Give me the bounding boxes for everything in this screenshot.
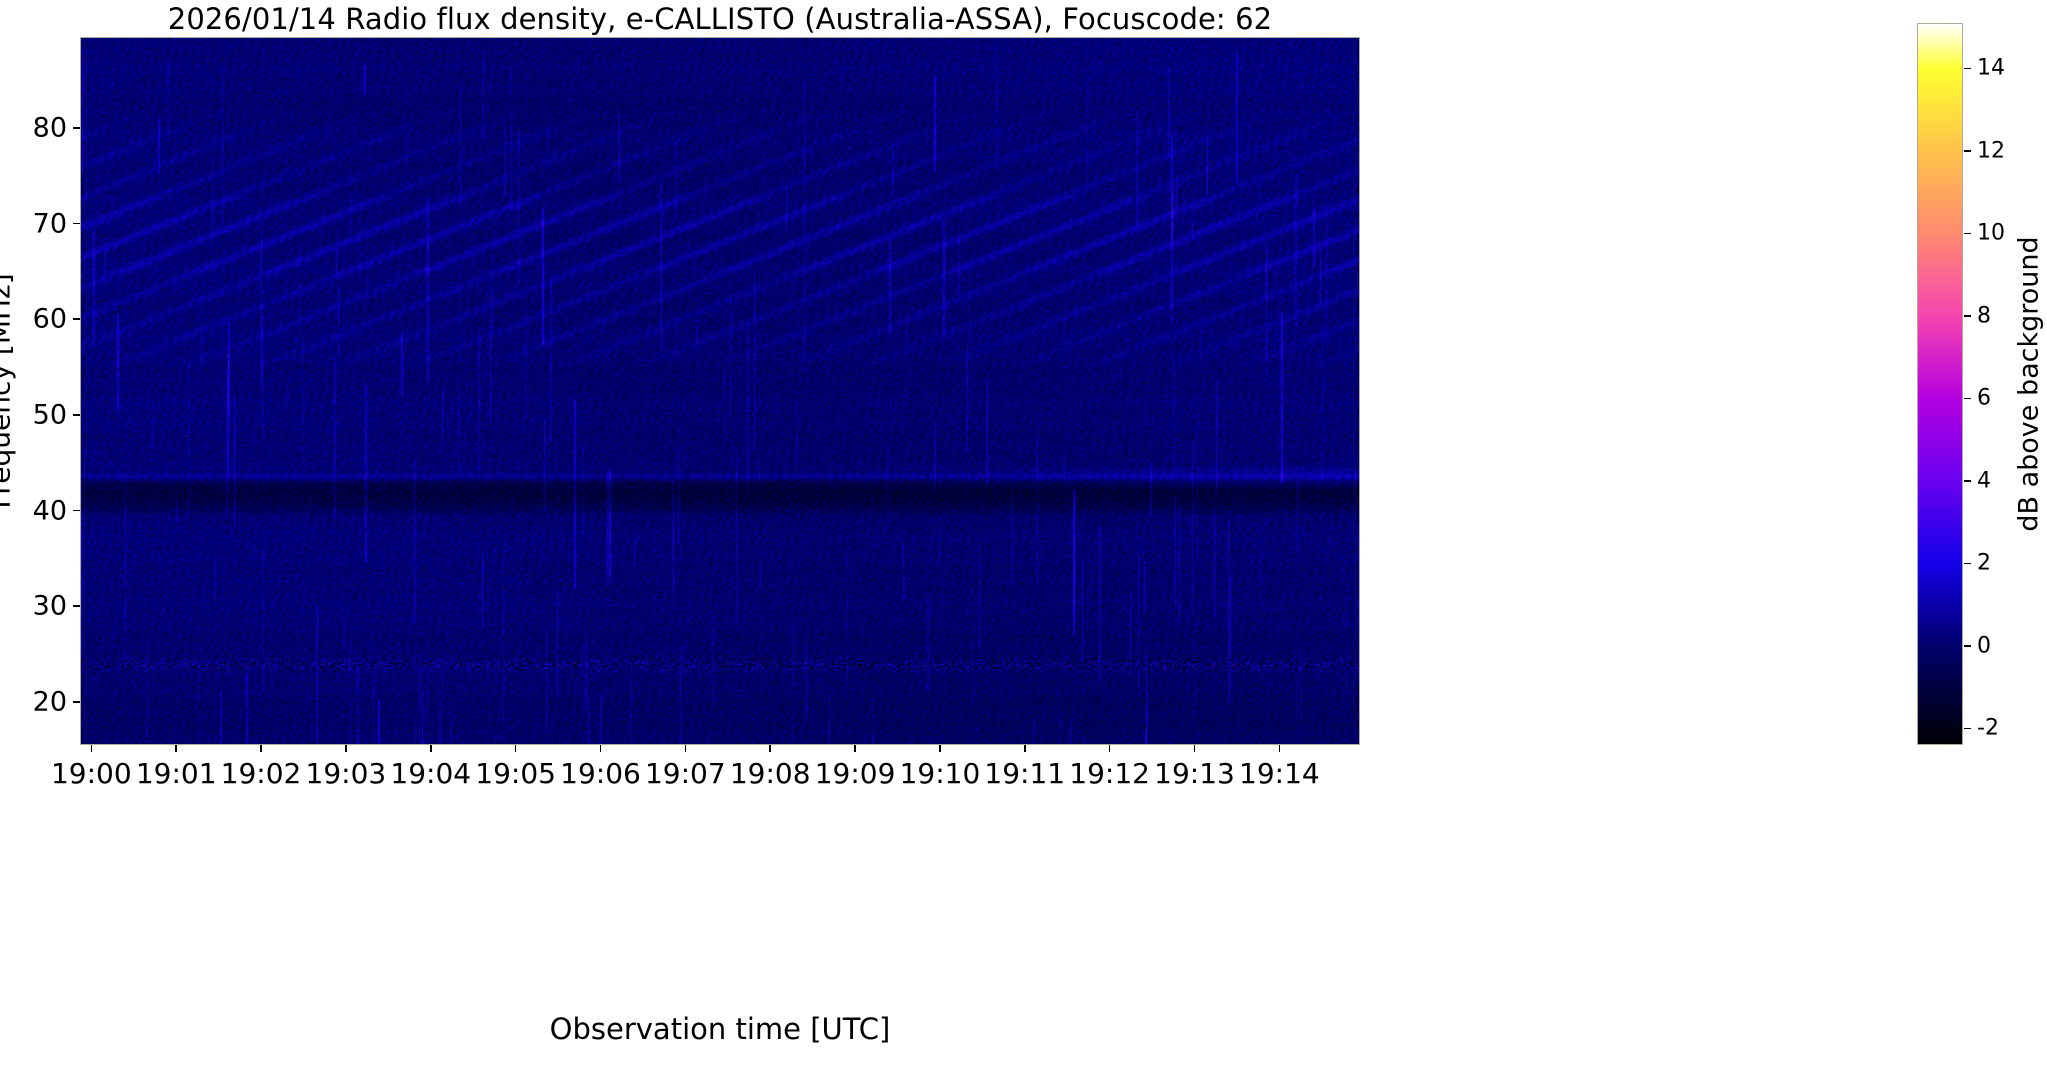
colorbar-tick-mark — [1964, 150, 1971, 152]
colorbar-tick-label: -2 — [1977, 716, 1999, 741]
x-tick-mark — [430, 745, 432, 752]
colorbar-tick-mark — [1964, 563, 1971, 565]
colorbar-tick-mark — [1964, 68, 1971, 70]
x-tick-label: 19:12 — [1069, 757, 1150, 790]
x-tick-label: 19:03 — [306, 757, 387, 790]
y-tick-mark — [73, 605, 80, 607]
colorbar-tick-mark — [1964, 480, 1971, 482]
x-tick-mark — [515, 745, 517, 752]
x-tick-label: 19:00 — [51, 757, 132, 790]
colorbar-tick-mark — [1964, 315, 1971, 317]
y-tick-label: 80 — [33, 112, 67, 143]
colorbar-tick-label: 4 — [1977, 468, 1991, 493]
x-tick-mark — [1279, 745, 1281, 752]
colorbar-tick-mark — [1964, 645, 1971, 647]
y-tick-label: 50 — [33, 399, 67, 430]
x-tick-mark — [939, 745, 941, 752]
page-title: 2026/01/14 Radio flux density, e-CALLIST… — [80, 2, 1360, 36]
y-tick-mark — [73, 510, 80, 512]
x-tick-mark — [91, 745, 93, 752]
x-tick-mark — [685, 745, 687, 752]
y-tick-mark — [73, 318, 80, 320]
x-tick-label: 19:01 — [136, 757, 217, 790]
x-tick-mark — [1194, 745, 1196, 752]
colorbar-tick-label: 12 — [1977, 138, 2005, 163]
x-tick-mark — [260, 745, 262, 752]
x-tick-label: 19:08 — [730, 757, 811, 790]
x-tick-mark — [175, 745, 177, 752]
colorbar-tick-label: 10 — [1977, 221, 2005, 246]
colorbar-tick-label: 6 — [1977, 386, 1991, 411]
colorbar-label: dB above background — [2014, 236, 2045, 531]
colorbar-tick-mark — [1964, 398, 1971, 400]
x-tick-label: 19:11 — [984, 757, 1065, 790]
colorbar-tick-mark — [1964, 728, 1971, 730]
colorbar-tick-mark — [1964, 233, 1971, 235]
spectrogram-figure: 2026/01/14 Radio flux density, e-CALLIST… — [0, 0, 2047, 1067]
y-tick-label: 40 — [33, 495, 67, 526]
colorbar-tick-label: 14 — [1977, 56, 2005, 81]
colorbar-tick-label: 0 — [1977, 633, 1991, 658]
colorbar-tick-label: 8 — [1977, 303, 1991, 328]
colorbar-gradient — [1918, 24, 1962, 744]
y-tick-mark — [73, 223, 80, 225]
x-tick-mark — [600, 745, 602, 752]
spectrogram-plot-area — [80, 37, 1360, 745]
x-tick-label: 19:02 — [221, 757, 302, 790]
y-tick-label: 30 — [33, 591, 67, 622]
x-tick-label: 19:04 — [390, 757, 471, 790]
x-tick-label: 19:05 — [475, 757, 556, 790]
x-tick-label: 19:14 — [1239, 757, 1320, 790]
x-tick-mark — [769, 745, 771, 752]
x-tick-mark — [854, 745, 856, 752]
colorbar-tick-label: 2 — [1977, 551, 1991, 576]
x-tick-mark — [1024, 745, 1026, 752]
x-tick-label: 19:10 — [900, 757, 981, 790]
y-tick-mark — [73, 414, 80, 416]
x-tick-mark — [1109, 745, 1111, 752]
x-tick-label: 19:07 — [645, 757, 726, 790]
x-tick-mark — [345, 745, 347, 752]
y-tick-label: 20 — [33, 686, 67, 717]
y-tick-label: 60 — [33, 304, 67, 335]
colorbar — [1917, 23, 1963, 745]
y-tick-mark — [73, 127, 80, 129]
y-tick-label: 70 — [33, 208, 67, 239]
x-axis-label: Observation time [UTC] — [550, 1012, 891, 1046]
y-axis-label: Frequency [MHz] — [0, 273, 17, 508]
x-tick-label: 19:13 — [1154, 757, 1235, 790]
x-tick-label: 19:09 — [815, 757, 896, 790]
spectrogram-image — [81, 38, 1360, 745]
y-tick-mark — [73, 701, 80, 703]
x-tick-label: 19:06 — [560, 757, 641, 790]
